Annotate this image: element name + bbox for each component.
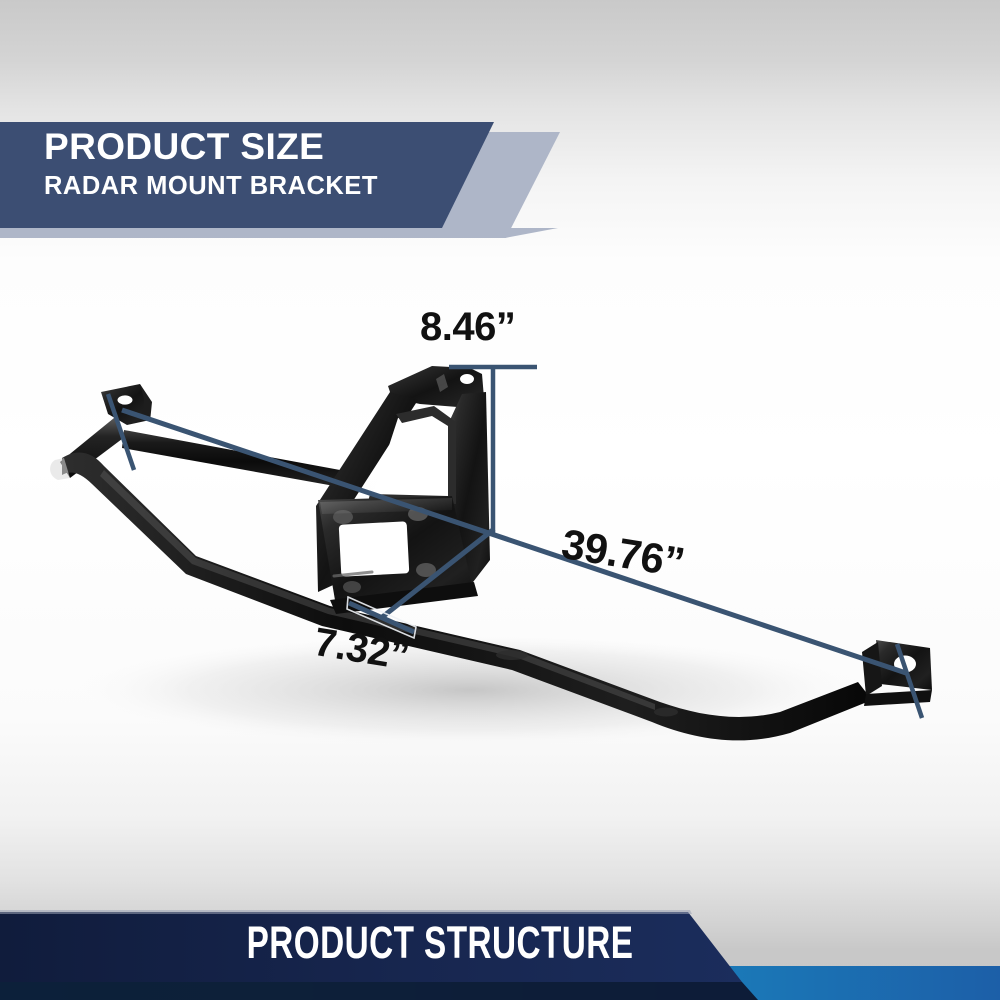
bottom-banner-topline xyxy=(0,910,692,914)
bottom-banner-graphics xyxy=(0,0,1000,1000)
product-size-infographic: PRODUCT SIZE RADAR MOUNT BRACKET xyxy=(0,0,1000,1000)
bottom-banner-shadow xyxy=(0,982,758,1000)
footer-title: PRODUCT STRUCTURE xyxy=(114,917,765,969)
